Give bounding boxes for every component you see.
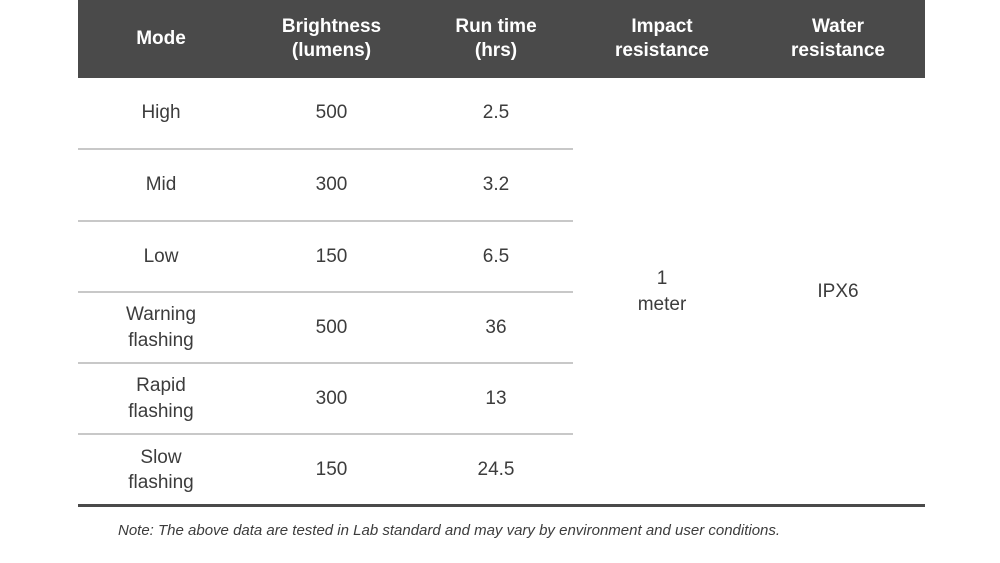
cell-run-time: 6.5 [419, 244, 573, 269]
table-footnote: Note: The above data are tested in Lab s… [118, 522, 780, 539]
column-header-water-resistance-line2: resistance [755, 39, 921, 63]
cell-mode: Low [78, 244, 244, 269]
table-body: High 500 2.5 Mid 300 3.2 Low 150 [78, 78, 925, 505]
column-header-brightness: Brightness (lumens) [244, 15, 419, 64]
column-header-water-resistance: Water resistance [751, 15, 925, 64]
cell-mode-line2: flashing [82, 470, 240, 495]
cell-mode-line2: flashing [82, 399, 240, 424]
cell-brightness: 500 [244, 315, 419, 340]
cell-brightness: 150 [244, 457, 419, 482]
cell-mode: Mid [78, 172, 244, 197]
column-header-brightness-line2: (lumens) [248, 39, 415, 63]
column-header-run-time: Run time (hrs) [419, 15, 573, 64]
cell-brightness: 300 [244, 386, 419, 411]
cell-mode: Slow flashing [78, 445, 244, 496]
column-header-water-resistance-line1: Water [755, 15, 921, 39]
cell-mode-line2: flashing [82, 328, 240, 353]
cell-mode: High [78, 100, 244, 125]
table-header-row: Mode Brightness (lumens) Run time (hrs) … [78, 0, 925, 78]
table-body-merged-columns: 1 meter IPX6 [573, 78, 925, 505]
cell-mode-line1: Low [82, 244, 240, 269]
column-header-run-time-line1: Run time [423, 15, 569, 39]
cell-water-resistance-merged: IPX6 [751, 279, 925, 304]
cell-run-time: 3.2 [419, 172, 573, 197]
cell-brightness: 500 [244, 100, 419, 125]
cell-mode-line1: Rapid [82, 373, 240, 398]
cell-brightness: 150 [244, 244, 419, 269]
table-row: Slow flashing 150 24.5 [78, 435, 573, 505]
cell-impact-resistance-line2: meter [577, 292, 747, 317]
column-header-run-time-line2: (hrs) [423, 39, 569, 63]
table-row: Rapid flashing 300 13 [78, 364, 573, 435]
column-header-impact-resistance: Impact resistance [573, 15, 751, 64]
column-header-impact-resistance-line2: resistance [577, 39, 747, 63]
cell-run-time: 24.5 [419, 457, 573, 482]
column-header-impact-resistance-line1: Impact [577, 15, 747, 39]
table-row: Mid 300 3.2 [78, 150, 573, 222]
specification-table-figure: Mode Brightness (lumens) Run time (hrs) … [0, 0, 1000, 563]
table-bottom-rule [78, 504, 925, 507]
cell-mode: Warning flashing [78, 302, 244, 353]
cell-mode-line1: High [82, 100, 240, 125]
cell-run-time: 13 [419, 386, 573, 411]
column-header-mode-line1: Mode [82, 27, 240, 51]
table-row: Warning flashing 500 36 [78, 293, 573, 364]
table-row: Low 150 6.5 [78, 222, 573, 293]
cell-brightness: 300 [244, 172, 419, 197]
column-header-mode: Mode [78, 27, 244, 51]
cell-impact-resistance-line1: 1 [577, 266, 747, 291]
cell-mode-line1: Mid [82, 172, 240, 197]
table-row: High 500 2.5 [78, 78, 573, 150]
table-body-left-columns: High 500 2.5 Mid 300 3.2 Low 150 [78, 78, 573, 505]
cell-run-time: 2.5 [419, 100, 573, 125]
column-header-brightness-line1: Brightness [248, 15, 415, 39]
cell-mode-line1: Slow [82, 445, 240, 470]
cell-run-time: 36 [419, 315, 573, 340]
cell-impact-resistance-merged: 1 meter [573, 266, 751, 317]
spec-table: Mode Brightness (lumens) Run time (hrs) … [78, 0, 925, 505]
cell-mode: Rapid flashing [78, 373, 244, 424]
cell-mode-line1: Warning [82, 302, 240, 327]
